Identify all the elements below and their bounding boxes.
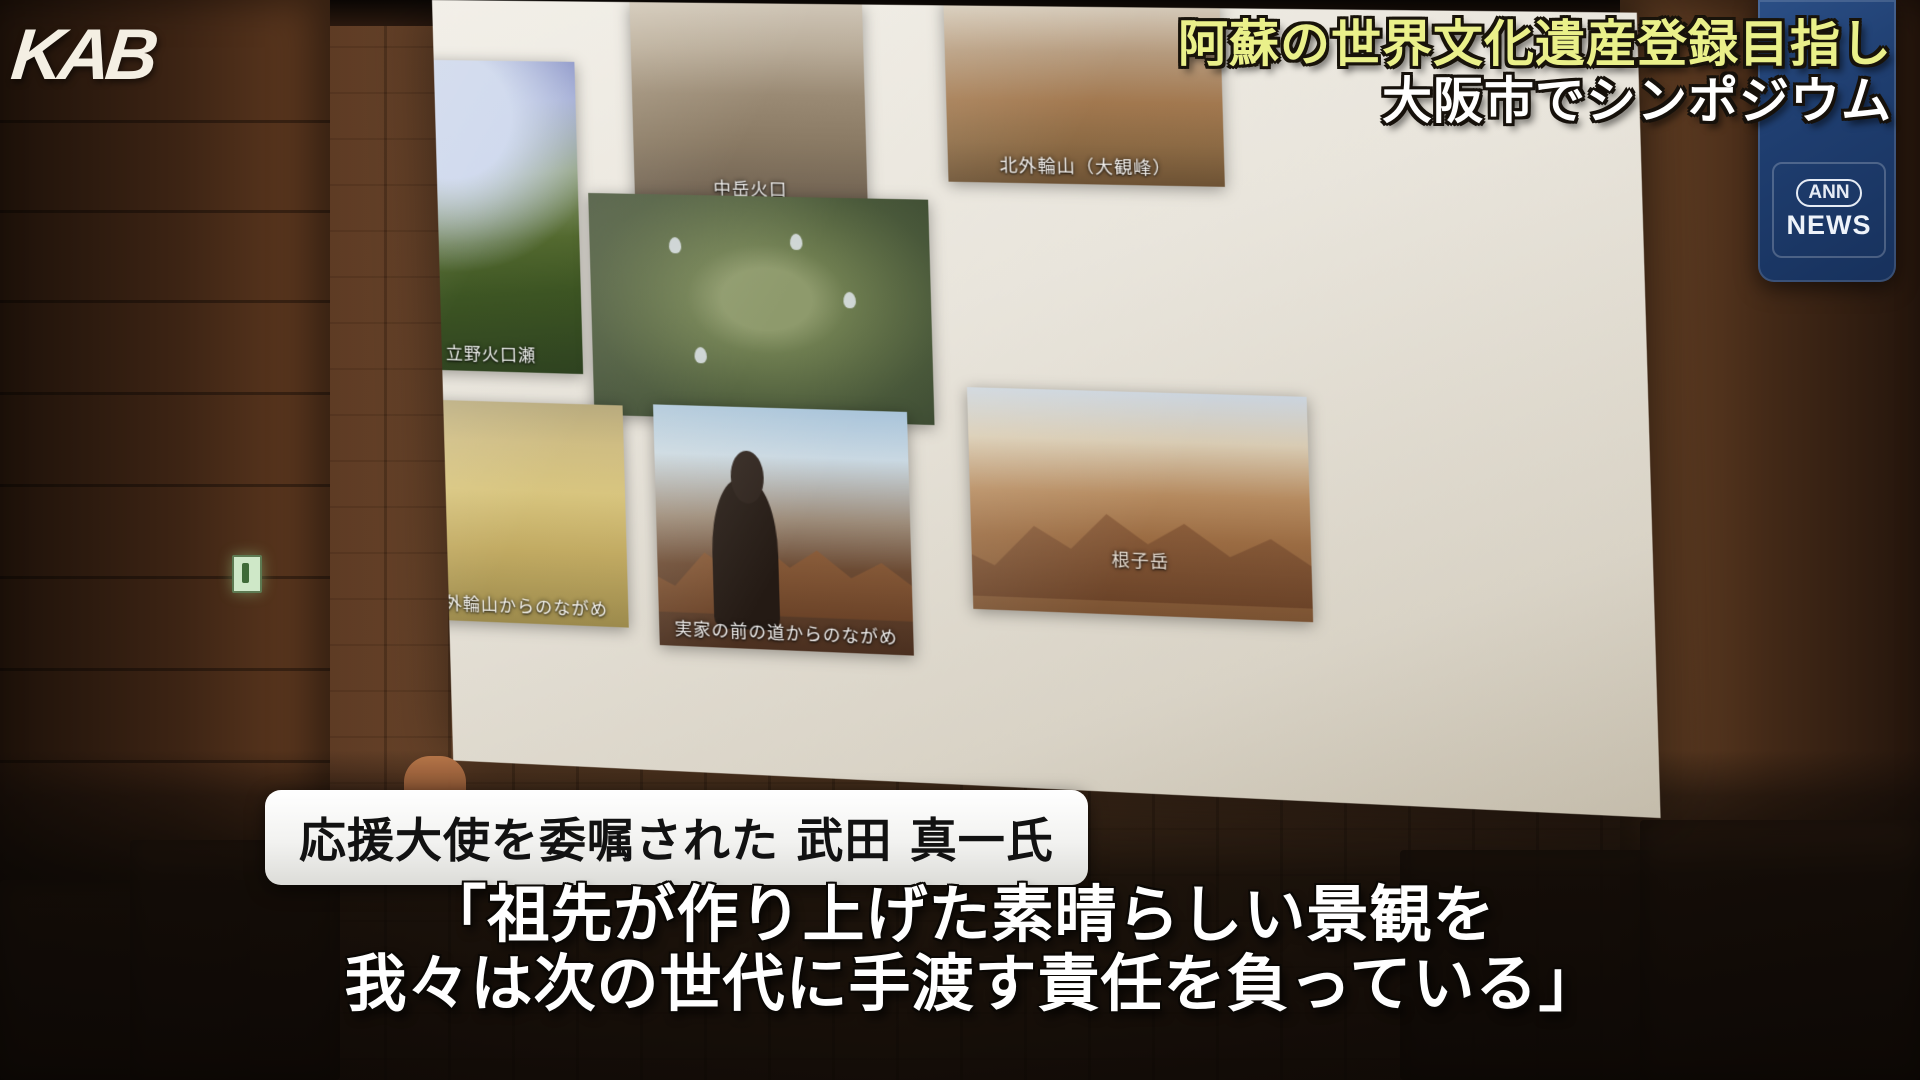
- subtitle-line-2: 我々は次の世代に手渡す責任を負っている」: [0, 949, 1920, 1018]
- subtitle-line-1: 「祖先が作り上げた素晴らしい景観を: [0, 880, 1920, 949]
- headline-line-1: 阿蘇の世界文化遺産登録目指し: [1178, 18, 1892, 71]
- slide-photo-nekodake: 根子岳: [967, 387, 1313, 622]
- slide-photo-jikka: 実家の前の道からのながめ: [653, 404, 914, 655]
- slide-photo-minami: 南外輪山からのながめ: [432, 399, 629, 628]
- slide-photo-tateno: 立野火口瀬: [432, 59, 583, 374]
- news-text: NEWS: [1787, 210, 1872, 241]
- station-logo-kab: KAB: [8, 14, 158, 96]
- slide-caption-kitagairin: 北外輪山（大観峰）: [948, 150, 1225, 181]
- slide-caption-tateno: 立野火口瀬: [432, 338, 583, 368]
- headline-line-2: 大阪市でシンポジウム: [1178, 75, 1892, 128]
- emergency-exit-sign-icon: [232, 555, 262, 593]
- speaker-name-text: 応援大使を委嘱された 武田 真一氏: [299, 814, 1054, 869]
- broadcast-frame: 立野火口瀬 中岳火口 北外輪山（大観峰） 南外輪山からのながめ: [0, 0, 1920, 1080]
- speaker-name-banner: 応援大使を委嘱された 武田 真一氏: [265, 790, 1088, 885]
- slide-photo-nakadake: 中岳火口: [629, 2, 867, 209]
- ann-news-logo: ANN NEWS: [1772, 162, 1886, 258]
- slide-photo-map: [588, 193, 934, 425]
- ann-text: ANN: [1796, 179, 1861, 207]
- subtitle-block: 「祖先が作り上げた素晴らしい景観を 我々は次の世代に手渡す責任を負っている」: [0, 880, 1920, 1019]
- headline: 阿蘇の世界文化遺産登録目指し 大阪市でシンポジウム: [1178, 18, 1892, 127]
